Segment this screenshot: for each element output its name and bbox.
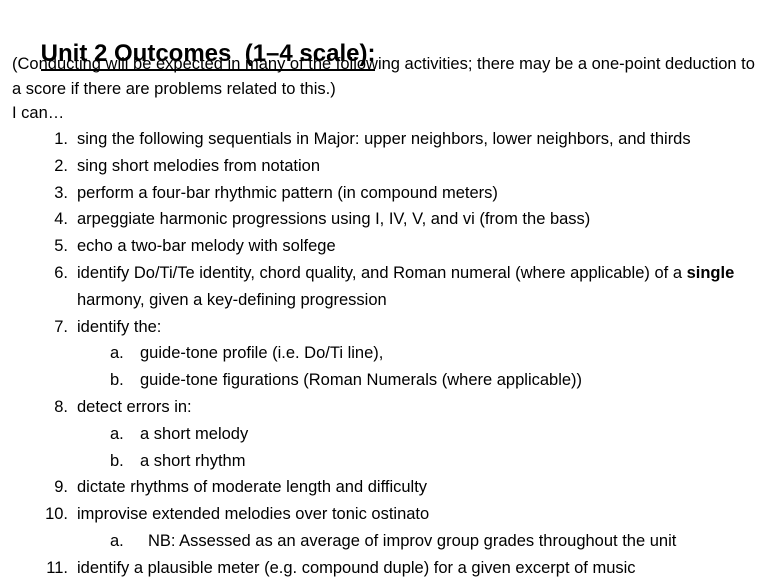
list-item: 8.detect errors in: bbox=[0, 394, 776, 421]
list-item: a.a short melody bbox=[0, 421, 776, 448]
list-item-marker: 2. bbox=[20, 153, 68, 180]
list-item-marker: 1. bbox=[20, 126, 68, 153]
list-item-text: improvise extended melodies over tonic o… bbox=[77, 501, 768, 528]
list-item: 3.perform a four-bar rhythmic pattern (i… bbox=[0, 180, 776, 207]
list-item-text: dictate rhythms of moderate length and d… bbox=[77, 474, 768, 501]
document-page: Unit 2 Outcomes (1–4 scale): (Conducting… bbox=[0, 0, 776, 551]
list-item: 5.echo a two-bar melody with solfege bbox=[0, 233, 776, 260]
list-item-text-segment: identify Do/Ti/Te identity, chord qualit… bbox=[77, 264, 687, 282]
list-item: a.guide-tone profile (i.e. Do/Ti line), bbox=[0, 340, 776, 367]
intro-note: (Conducting will be expected in many of … bbox=[12, 52, 764, 102]
list-item-text: identify a plausible meter (e.g. compoun… bbox=[77, 555, 768, 582]
list-item-text: detect errors in: bbox=[77, 394, 768, 421]
list-item-text: guide-tone figurations (Roman Numerals (… bbox=[140, 367, 768, 394]
list-item-text-segment: harmony, given a key-defining progressio… bbox=[77, 291, 387, 309]
list-stem: I can… bbox=[12, 101, 64, 126]
list-item-marker: a. bbox=[110, 340, 132, 367]
list-item: b.guide-tone figurations (Roman Numerals… bbox=[0, 367, 776, 394]
list-item-text: perform a four-bar rhythmic pattern (in … bbox=[77, 180, 768, 207]
list-item-marker: 6. bbox=[20, 260, 68, 287]
list-item-marker: b. bbox=[110, 367, 132, 394]
list-item-marker: 3. bbox=[20, 180, 68, 207]
list-item: 1.sing the following sequentials in Majo… bbox=[0, 126, 776, 153]
list-item-text: echo a two-bar melody with solfege bbox=[77, 233, 768, 260]
outcomes-list: 1.sing the following sequentials in Majo… bbox=[0, 126, 776, 582]
list-item-emphasis: single bbox=[687, 264, 735, 282]
list-item: 6.identify Do/Ti/Te identity, chord qual… bbox=[0, 260, 776, 314]
list-item-text: arpeggiate harmonic progressions using I… bbox=[77, 206, 768, 233]
list-item-marker: 11. bbox=[20, 555, 68, 582]
list-item-text: sing short melodies from notation bbox=[77, 153, 768, 180]
list-item: 11.identify a plausible meter (e.g. comp… bbox=[0, 555, 776, 582]
list-item-text: sing the following sequentials in Major:… bbox=[77, 126, 768, 153]
list-item: b.a short rhythm bbox=[0, 448, 776, 475]
list-item-text: identify the: bbox=[77, 314, 768, 341]
list-item-marker: 7. bbox=[20, 314, 68, 341]
list-item-marker: a. bbox=[110, 421, 132, 448]
list-item: 7.identify the: bbox=[0, 314, 776, 341]
list-item-marker: 10. bbox=[20, 501, 68, 528]
list-item: 4.arpeggiate harmonic progressions using… bbox=[0, 206, 776, 233]
list-item-text: a short rhythm bbox=[140, 448, 768, 475]
list-item: 10.improvise extended melodies over toni… bbox=[0, 501, 776, 528]
list-item-marker: b. bbox=[110, 448, 132, 475]
list-item-text: guide-tone profile (i.e. Do/Ti line), bbox=[140, 340, 768, 367]
list-item: 2.sing short melodies from notation bbox=[0, 153, 776, 180]
list-item-text: identify Do/Ti/Te identity, chord qualit… bbox=[77, 260, 768, 314]
list-item: 9.dictate rhythms of moderate length and… bbox=[0, 474, 776, 501]
list-item-text: a short melody bbox=[140, 421, 768, 448]
list-item-marker: 8. bbox=[20, 394, 68, 421]
list-item-marker: 9. bbox=[20, 474, 68, 501]
list-item-marker: 4. bbox=[20, 206, 68, 233]
list-item-marker: 5. bbox=[20, 233, 68, 260]
